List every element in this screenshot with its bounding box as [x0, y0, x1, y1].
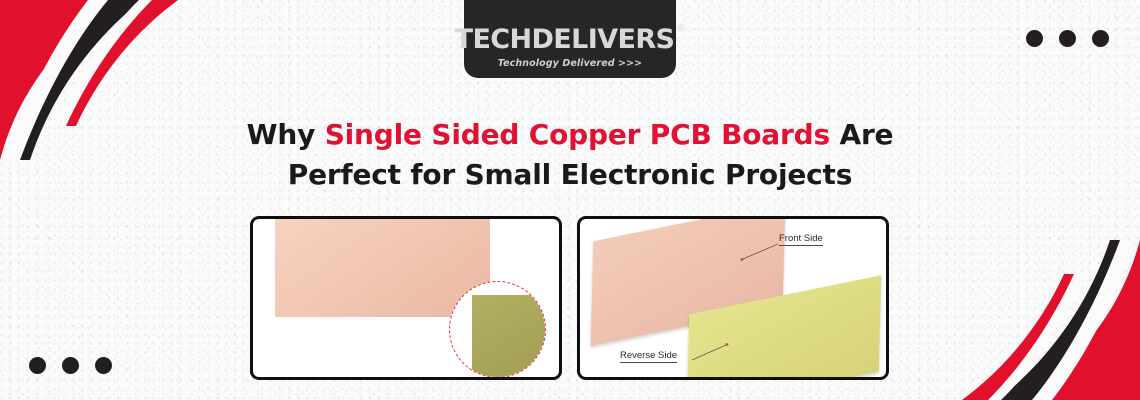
- registered-trademark-icon: ®: [676, 24, 685, 34]
- front-side-label: Front Side: [779, 233, 823, 246]
- dot: [95, 357, 112, 374]
- brand-logo[interactable]: TECHDELIVERS® Technology Delivered >>>: [464, 0, 676, 78]
- dot: [62, 357, 79, 374]
- dot: [1059, 30, 1076, 47]
- logo-tagline-text: Technology Delivered >>>: [498, 59, 642, 69]
- dot: [1026, 30, 1043, 47]
- image-panel-pcb-sides[interactable]: Front Side Reverse Side: [577, 216, 889, 380]
- headline-suffix: Are: [830, 118, 893, 151]
- headline-prefix: Why: [247, 118, 325, 151]
- dots-decoration-top-right: [1026, 30, 1109, 47]
- logo-wordmark-text: TECHDELIVERS®: [455, 26, 686, 53]
- reverse-side-label: Reverse Side: [620, 350, 677, 363]
- page-title: Why Single Sided Copper PCB Boards Are P…: [0, 115, 1140, 195]
- dot: [29, 357, 46, 374]
- dots-decoration-bottom-left: [29, 357, 112, 374]
- image-panel-copper-closeup[interactable]: [250, 216, 562, 380]
- magnified-detail-circle: [449, 281, 546, 378]
- dot: [1092, 30, 1109, 47]
- headline-highlight: Single Sided Copper PCB Boards: [325, 118, 830, 151]
- promotional-banner: TECHDELIVERS® Technology Delivered >>> W…: [0, 0, 1140, 400]
- fr4-substrate-detail: [472, 295, 546, 378]
- headline-line-2: Perfect for Small Electronic Projects: [0, 155, 1140, 195]
- headline-line-1: Why Single Sided Copper PCB Boards Are: [0, 115, 1140, 155]
